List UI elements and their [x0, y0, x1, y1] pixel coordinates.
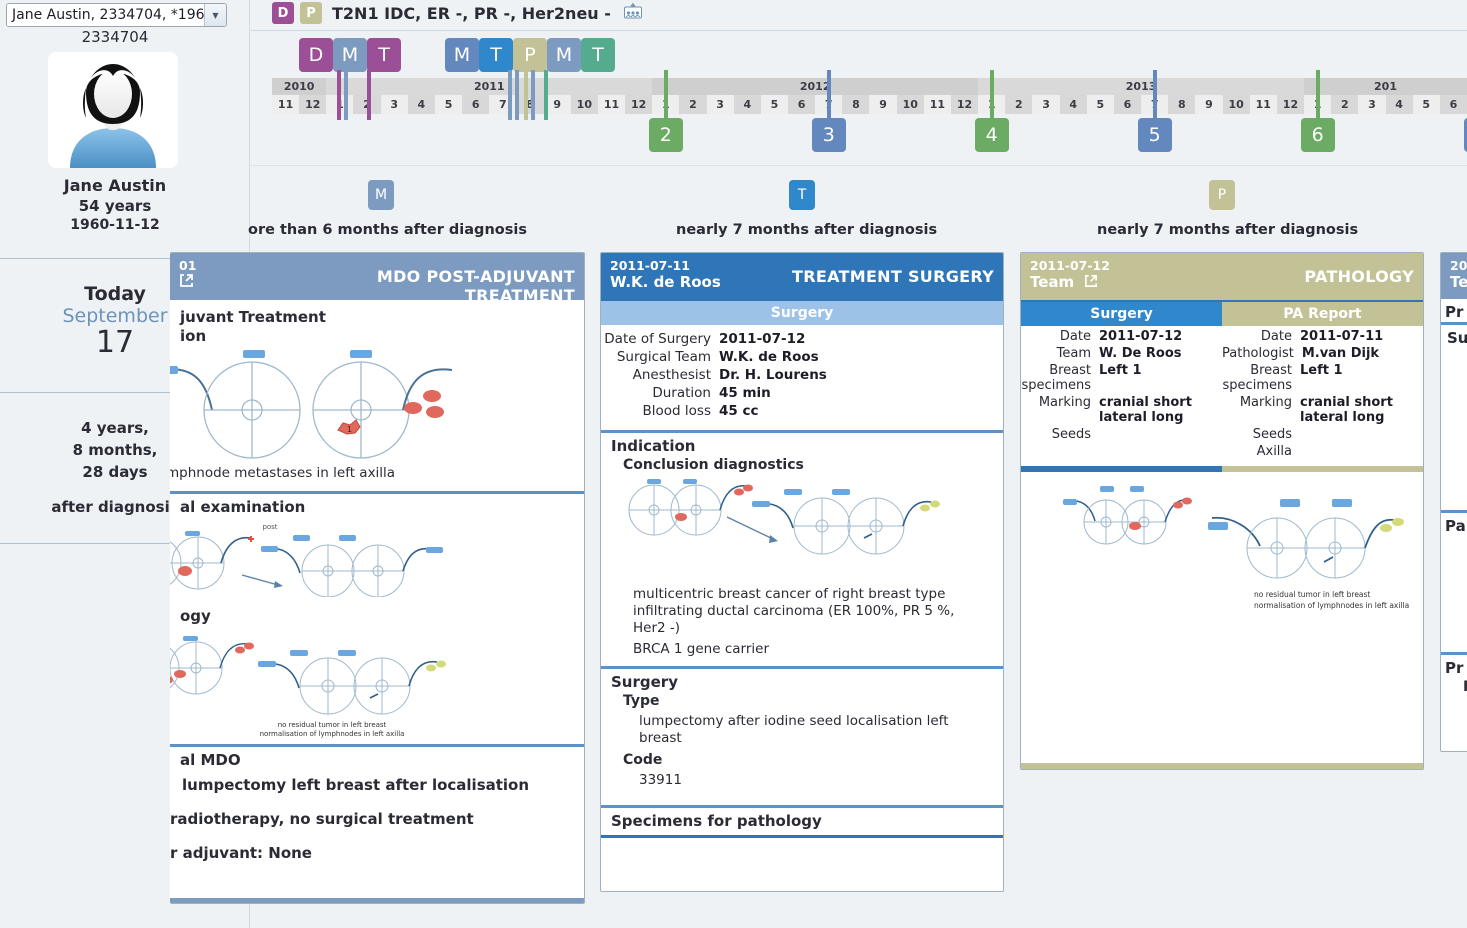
mdo-section-4-title: al MDO [170, 747, 584, 770]
timeline-marker-5[interactable]: 5 [1138, 118, 1172, 152]
lane-caption-surgery: nearly 7 months after diagnosis [676, 222, 937, 238]
patient-age: 54 years [0, 197, 230, 215]
avatar-icon [48, 52, 178, 168]
card-footer-bar [170, 898, 584, 903]
timeline-event-m-1[interactable]: M [333, 38, 367, 72]
patient-mrn: 2334704 [0, 28, 230, 46]
pathology-surgery-fields: Date2011-07-12TeamW. De RoosBreast speci… [1021, 326, 1222, 462]
field-value: 2011-07-12 [1099, 329, 1222, 344]
card-next-clipped[interactable]: 20 Te Pr Su I T Pa Pr F F F [1440, 252, 1467, 752]
patient-selector-value[interactable]: Jane Austin, 2334704, *196 [7, 4, 204, 26]
field-label: Team [1021, 346, 1099, 361]
pathology-col-head-surgery: Surgery [1021, 302, 1222, 326]
card-who: Te [1450, 273, 1467, 292]
next-line-7: F [1441, 678, 1467, 697]
field-value: Dr. H. Lourens [719, 367, 1003, 383]
timeline-event-m-6[interactable]: M [547, 38, 581, 72]
card-kind: PATHOLOGY [1304, 267, 1414, 286]
mdo-diagram-1-caption: mphnode metastases in left axilla [170, 465, 584, 481]
field-value: cranial short lateral long [1099, 395, 1222, 425]
surgery-subbar: Surgery [601, 299, 1003, 325]
timeline-marker-stem-5 [1153, 70, 1157, 120]
field-label: Date of Surgery [601, 331, 719, 347]
next-line-2: Su [1441, 325, 1467, 348]
surgery-field-row: Date of Surgery2011-07-12 [601, 330, 1003, 348]
svg-text:post: post [262, 523, 277, 531]
field-label: Pathologist [1222, 346, 1302, 361]
timeline-marker-stem-4 [990, 70, 994, 120]
pathology-pa-report-fields: Date2011-07-11PathologistM.van DijkBreas… [1222, 326, 1423, 462]
breast-diagram-1: 1 [170, 348, 460, 463]
mdo-section-1-sub: ion [170, 327, 584, 346]
field-label: Seeds [1021, 427, 1099, 442]
timeline-event-t-2[interactable]: T [367, 38, 401, 72]
pathology-surgery-field-row: Breast specimensLeft 1 [1021, 362, 1222, 394]
field-value: 2011-07-11 [1300, 329, 1423, 344]
pathology-pa-field-row: Breast specimensLeft 1 [1222, 362, 1423, 394]
indication-subtitle: Conclusion diagnostics [601, 456, 1003, 475]
field-label: Date [1222, 329, 1300, 344]
field-value: cranial short lateral long [1300, 395, 1423, 425]
next-line-9: F [1441, 733, 1467, 752]
breast-diagram-pathology: no residual tumor in left breast normali… [1022, 474, 1422, 614]
card-kind-line2: TREATMENT [377, 286, 575, 305]
lane-pill-t[interactable]: T [789, 180, 815, 210]
field-label: Date [1021, 329, 1099, 344]
field-label: Blood loss [601, 403, 719, 419]
svg-text:no residual tumor in left brea: no residual tumor in left breast [1254, 590, 1370, 599]
next-line-1: Pr [1441, 299, 1467, 322]
field-label: Breast specimens [1021, 363, 1099, 393]
timeline-marker-stem-6 [1316, 70, 1320, 120]
pathology-col-head-pa-report: PA Report [1222, 302, 1423, 326]
svg-text:normalisation of lymphnodes in: normalisation of lymphnodes in left axil… [260, 730, 405, 738]
field-label: Marking [1222, 395, 1300, 425]
surgery-field-row: AnesthesistDr. H. Lourens [601, 366, 1003, 384]
mdo-section-2-title: al examination [170, 494, 584, 517]
timeline-marker-4[interactable]: 4 [975, 118, 1009, 152]
field-value: 2011-07-12 [719, 331, 1003, 347]
timeline-marker-layer[interactable]: 234567 [250, 70, 1467, 165]
pathology-surgery-field-row: Markingcranial short lateral long [1021, 394, 1222, 426]
pathology-surgery-field-row: Date2011-07-12 [1021, 328, 1222, 345]
indication-text-2: BRCA 1 gene carrier [601, 641, 1003, 662]
card-kind: TREATMENT SURGERY [792, 267, 994, 286]
divider-right [1222, 466, 1423, 472]
field-value: W. De Roos [1099, 346, 1222, 361]
field-value: 45 min [719, 385, 1003, 401]
svg-text:no residual tumor in left brea: no residual tumor in left breast [278, 721, 387, 729]
next-line-6: Pr [1441, 655, 1467, 678]
external-link-icon[interactable] [1084, 274, 1098, 293]
timeline-marker-3[interactable]: 3 [812, 118, 846, 152]
event-card-lane: M ore than 6 months after diagnosis T ne… [250, 165, 1467, 928]
field-value [1300, 427, 1423, 442]
card-mdo-post-adjuvant[interactable]: 01 MDO POST-ADJUVANT TREATMENT juvant Tr… [170, 252, 585, 904]
timeline-event-m-3[interactable]: M [445, 38, 479, 72]
field-label: Breast specimens [1222, 363, 1300, 393]
timeline-event-t-4[interactable]: T [479, 38, 513, 72]
card-kind-line1: MDO POST-ADJUVANT [377, 267, 575, 286]
field-value: W.K. de Roos [719, 349, 1003, 365]
diagnosis-pill-p[interactable]: P [300, 2, 322, 24]
mdo-section-3-title: ogy [170, 599, 584, 626]
mdo-section-1-title: juvant Treatment [170, 304, 584, 327]
surgery-type-label: Type [601, 692, 1003, 711]
next-line-3: I [1441, 348, 1467, 397]
pathology-pa-field-row: Seeds [1222, 426, 1423, 443]
lane-pill-m[interactable]: M [368, 180, 394, 210]
timeline[interactable]: D P T2N1 IDC, ER -, PR -, Her2neu - DMTM… [250, 0, 1467, 165]
surgery-code-label: Code [601, 751, 1003, 770]
diagnosis-pill-d[interactable]: D [272, 2, 294, 24]
specimens-title: Specimens for pathology [601, 808, 1003, 835]
surgery-code-value: 33911 [601, 770, 1003, 793]
field-label: Marking [1021, 395, 1099, 425]
chevron-down-icon[interactable]: ▼ [204, 4, 226, 26]
field-value [1099, 427, 1222, 442]
field-label: Seeds [1222, 427, 1300, 442]
indication-title: Indication [601, 433, 1003, 456]
pathology-pa-field-row: Markingcranial short lateral long [1222, 394, 1423, 426]
mdo-advice-2: radiotherapy, no surgical treatment [170, 794, 584, 828]
field-label: Axilla [1222, 444, 1300, 459]
diagnosis-header: D P T2N1 IDC, ER -, PR -, Her2neu - [272, 2, 643, 24]
card-footer-bar [601, 835, 1003, 838]
field-value: Left 1 [1300, 363, 1423, 393]
pathology-surgery-field-row: Seeds [1021, 426, 1222, 443]
card-who: Team [1030, 273, 1074, 291]
breast-diagram-indication [623, 477, 953, 582]
field-label: Surgical Team [601, 349, 719, 365]
svg-text:1: 1 [347, 425, 352, 434]
timeline-marker-6[interactable]: 6 [1301, 118, 1335, 152]
pathology-pa-field-row: PathologistM.van Dijk [1222, 345, 1423, 362]
avatar [48, 52, 178, 168]
lane-caption-pathology: nearly 7 months after diagnosis [1097, 222, 1358, 238]
breast-diagram-3: no residual tumor in left breast normali… [170, 628, 510, 738]
field-value: Left 1 [1099, 363, 1222, 393]
timeline-marker-2[interactable]: 2 [649, 118, 683, 152]
card-treatment-surgery[interactable]: 2011-07-11 W.K. de Roos TREATMENT SURGER… [600, 252, 1004, 892]
next-line-4: T [1441, 397, 1467, 504]
timeline-event-p-5[interactable]: P [513, 38, 547, 72]
lane-pill-p[interactable]: P [1209, 180, 1235, 210]
card-header: 01 MDO POST-ADJUVANT TREATMENT [170, 253, 584, 300]
pathology-pa-field-row: Axilla [1222, 443, 1423, 460]
breast-diagram-2: post pre [170, 519, 510, 597]
card-pathology[interactable]: 2011-07-12 Team PATHOLOGY Surgery PA Rep [1020, 252, 1424, 770]
divider-left [1021, 466, 1222, 472]
next-line-8: F [1441, 697, 1467, 733]
indication-text-1: multicentric breast cancer of right brea… [601, 584, 1003, 641]
patient-name: Jane Austin [0, 176, 230, 195]
surgery-field-row: Surgical TeamW.K. de Roos [601, 348, 1003, 366]
field-value: M.van Dijk [1302, 346, 1423, 361]
card-date: 20 [1450, 258, 1467, 273]
surgery-section-title: Surgery [601, 669, 1003, 692]
surgery-field-row: Blood loss45 cc [601, 402, 1003, 420]
timeline-marker-stem-2 [664, 70, 668, 120]
team-icon[interactable] [623, 2, 643, 24]
diagnosis-title: T2N1 IDC, ER -, PR -, Her2neu - [332, 4, 611, 23]
svg-text:normalisation of lymphnodes in: normalisation of lymphnodes in left axil… [1254, 601, 1409, 610]
surgery-field-list: Date of Surgery2011-07-12Surgical TeamW.… [601, 325, 1003, 424]
card-footer-bar [1021, 763, 1423, 769]
patient-selector[interactable]: Jane Austin, 2334704, *196 ▼ [6, 3, 227, 27]
timeline-marker-stem-3 [827, 70, 831, 120]
next-line-5: Pa [1441, 513, 1467, 536]
field-label: Anesthesist [601, 367, 719, 383]
card-kind: MDO POST-ADJUVANT TREATMENT [377, 267, 575, 305]
mdo-advice-1: lumpectomy left breast after localisatio… [170, 770, 584, 794]
pathology-pa-field-row: Date2011-07-11 [1222, 328, 1423, 345]
field-value [1300, 444, 1423, 459]
timeline-event-t-7[interactable]: T [581, 38, 615, 72]
lane-caption-mdo: ore than 6 months after diagnosis [248, 222, 527, 238]
field-label: Duration [601, 385, 719, 401]
surgery-field-row: Duration45 min [601, 384, 1003, 402]
card-header: 2011-07-11 W.K. de Roos TREATMENT SURGER… [601, 253, 1003, 299]
timeline-marker-7[interactable]: 7 [1464, 118, 1467, 152]
card-header: 2011-07-12 Team PATHOLOGY [1021, 253, 1423, 300]
divider [250, 30, 1467, 31]
timeline-event-d-0[interactable]: D [299, 38, 333, 72]
surgery-type-value: lumpectomy after iodine seed localisatio… [601, 711, 1003, 751]
patient-dob: 1960-11-12 [0, 217, 230, 233]
pathology-surgery-field-row: TeamW. De Roos [1021, 345, 1222, 362]
field-value: 45 cc [719, 403, 1003, 419]
mdo-advice-3: r adjuvant: None [170, 828, 584, 862]
card-header: 20 Te [1441, 253, 1467, 299]
